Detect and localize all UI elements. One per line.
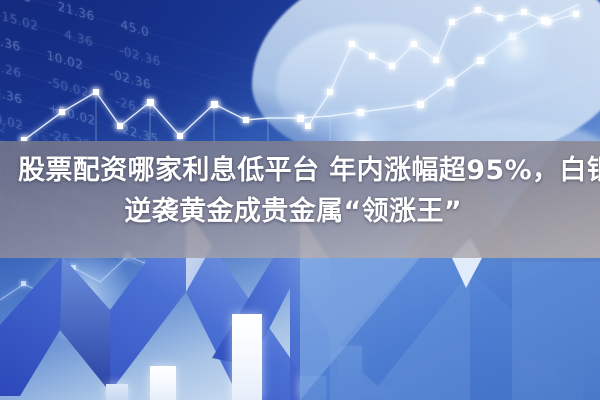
headline-line-1: 股票配资哪家利息低平台 年内涨幅超95%，白银 [18, 150, 582, 191]
headline-line-2: 逆袭黄金成贵金属“领涨王” [18, 191, 582, 232]
financial-news-banner: -09.36 -02.35 21.36 45.0 -11.25 +15.02 4… [0, 0, 600, 400]
headline: 股票配资哪家利息低平台 年内涨幅超95%，白银 逆袭黄金成贵金属“领涨王” [0, 150, 600, 232]
